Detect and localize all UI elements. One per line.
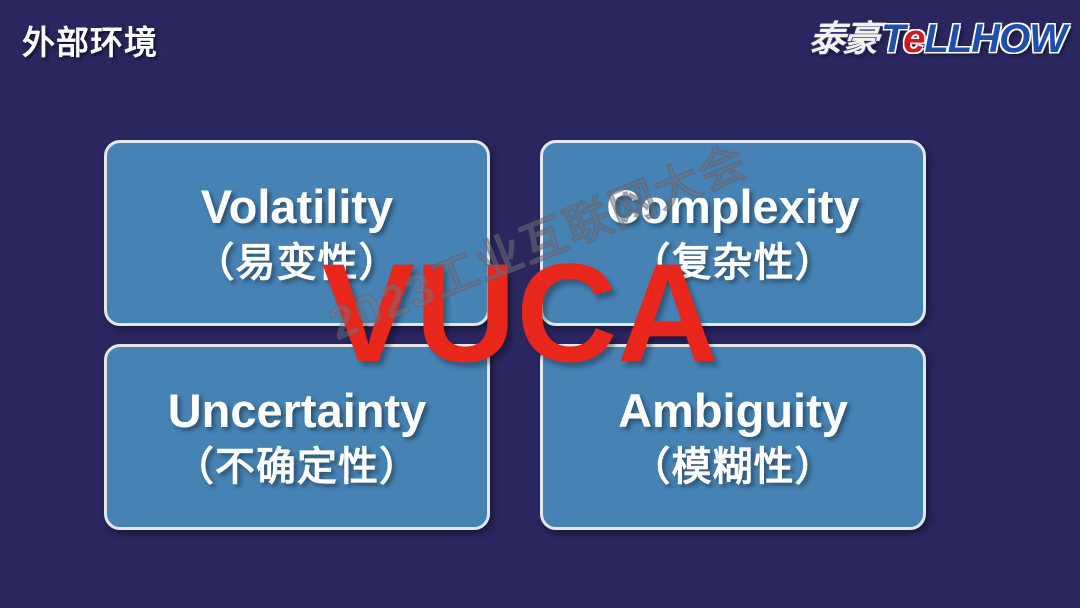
vuca-box-volatility: Volatility （易变性）	[104, 140, 490, 326]
brand-wordmark-accent-letter: e	[903, 17, 924, 61]
vuca-box-uncertainty: Uncertainty （不确定性）	[104, 344, 490, 530]
vuca-grid: Volatility （易变性） Complexity （复杂性） Uncert…	[104, 140, 926, 530]
vuca-box-ambiguity-chinese: （模糊性）	[631, 446, 836, 488]
vuca-box-volatility-chinese: （易变性）	[195, 242, 400, 284]
vuca-box-ambiguity-english: Ambiguity	[618, 386, 848, 435]
vuca-box-complexity-english: Complexity	[606, 182, 859, 231]
vuca-box-volatility-english: Volatility	[201, 182, 393, 231]
brand-wordmark-suffix: LLHOW	[924, 17, 1066, 61]
vuca-box-uncertainty-english: Uncertainty	[168, 386, 427, 435]
vuca-box-complexity: Complexity （复杂性）	[540, 140, 926, 326]
vuca-box-complexity-chinese: （复杂性）	[631, 242, 836, 284]
brand-logo: 泰豪 TeLLHOW	[809, 8, 1066, 70]
slide-canvas: 外部环境 泰豪 TeLLHOW Volatility （易变性） Complex…	[0, 0, 1080, 608]
vuca-box-uncertainty-chinese: （不确定性）	[174, 446, 420, 488]
brand-logo-wordmark: TeLLHOW	[881, 19, 1066, 59]
page-title: 外部环境	[22, 16, 158, 64]
brand-logo-chinese: 泰豪	[807, 21, 879, 57]
brand-wordmark-prefix: T	[881, 17, 903, 61]
vuca-box-ambiguity: Ambiguity （模糊性）	[540, 344, 926, 530]
